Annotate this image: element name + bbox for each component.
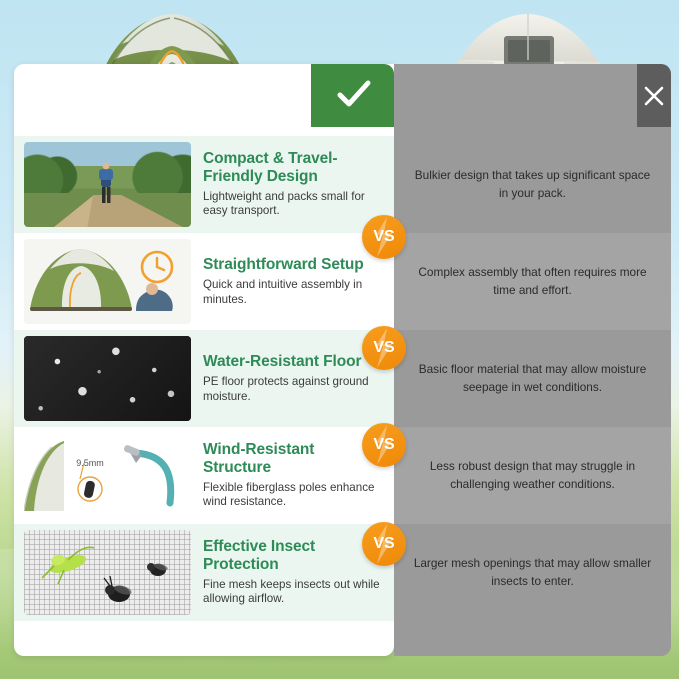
con-row: Larger mesh openings that may allow smal… <box>394 524 671 621</box>
pro-title: Straightforward Setup <box>203 256 384 273</box>
cons-rows: Bulkier design that takes up significant… <box>394 64 671 621</box>
water-beading-on-floor-thumb <box>24 336 191 421</box>
pro-row: Water-Resistant Floor PE floor protects … <box>14 330 394 427</box>
con-text: Bulkier design that takes up significant… <box>410 167 655 201</box>
pro-row: Straightforward Setup Quick and intuitiv… <box>14 233 394 330</box>
pros-rows: Compact & Travel-Friendly Design Lightwe… <box>14 64 394 621</box>
con-text: Larger mesh openings that may allow smal… <box>410 555 655 589</box>
vs-label: VS <box>373 228 394 246</box>
vs-badge: VS <box>362 326 406 370</box>
pro-desc: Quick and intuitive assembly in minutes. <box>203 278 384 307</box>
pole-diameter-label: 9.5mm <box>76 458 104 468</box>
vs-badge: VS <box>362 423 406 467</box>
con-row: Basic floor material that may allow mois… <box>394 330 671 427</box>
con-text: Basic floor material that may allow mois… <box>410 361 655 395</box>
con-row: Bulkier design that takes up significant… <box>394 136 671 233</box>
mesh-with-insects-thumb <box>24 530 191 615</box>
pro-row: Compact & Travel-Friendly Design Lightwe… <box>14 136 394 233</box>
fiberglass-pole-diagram-thumb: 9.5mm <box>24 433 191 518</box>
tent-setup-with-clock-thumb <box>24 239 191 324</box>
con-text: Complex assembly that often requires mor… <box>410 264 655 298</box>
pro-title: Effective Insect Protection <box>203 538 384 573</box>
pro-title: Wind-Resistant Structure <box>203 441 384 476</box>
con-text: Less robust design that may struggle in … <box>410 458 655 492</box>
pro-title: Compact & Travel-Friendly Design <box>203 150 384 185</box>
vs-label: VS <box>373 436 394 454</box>
vs-badge: VS <box>362 522 406 566</box>
pro-desc: PE floor protects against ground moistur… <box>203 375 384 404</box>
pro-row: 9.5mm Wind-Resistant Structure Flexible … <box>14 427 394 524</box>
vs-label: VS <box>373 535 394 553</box>
pro-row: Effective Insect Protection Fine mesh ke… <box>14 524 394 621</box>
hiker-with-backpack-thumb <box>24 142 191 227</box>
vs-label: VS <box>373 339 394 357</box>
pro-desc: Flexible fiberglass poles enhance wind r… <box>203 481 384 510</box>
con-row: Less robust design that may struggle in … <box>394 427 671 524</box>
vs-badge: VS <box>362 215 406 259</box>
pro-title: Water-Resistant Floor <box>203 353 384 370</box>
con-row: Complex assembly that often requires mor… <box>394 233 671 330</box>
pro-desc: Fine mesh keeps insects out while allowi… <box>203 578 384 607</box>
pro-desc: Lightweight and packs small for easy tra… <box>203 190 384 219</box>
